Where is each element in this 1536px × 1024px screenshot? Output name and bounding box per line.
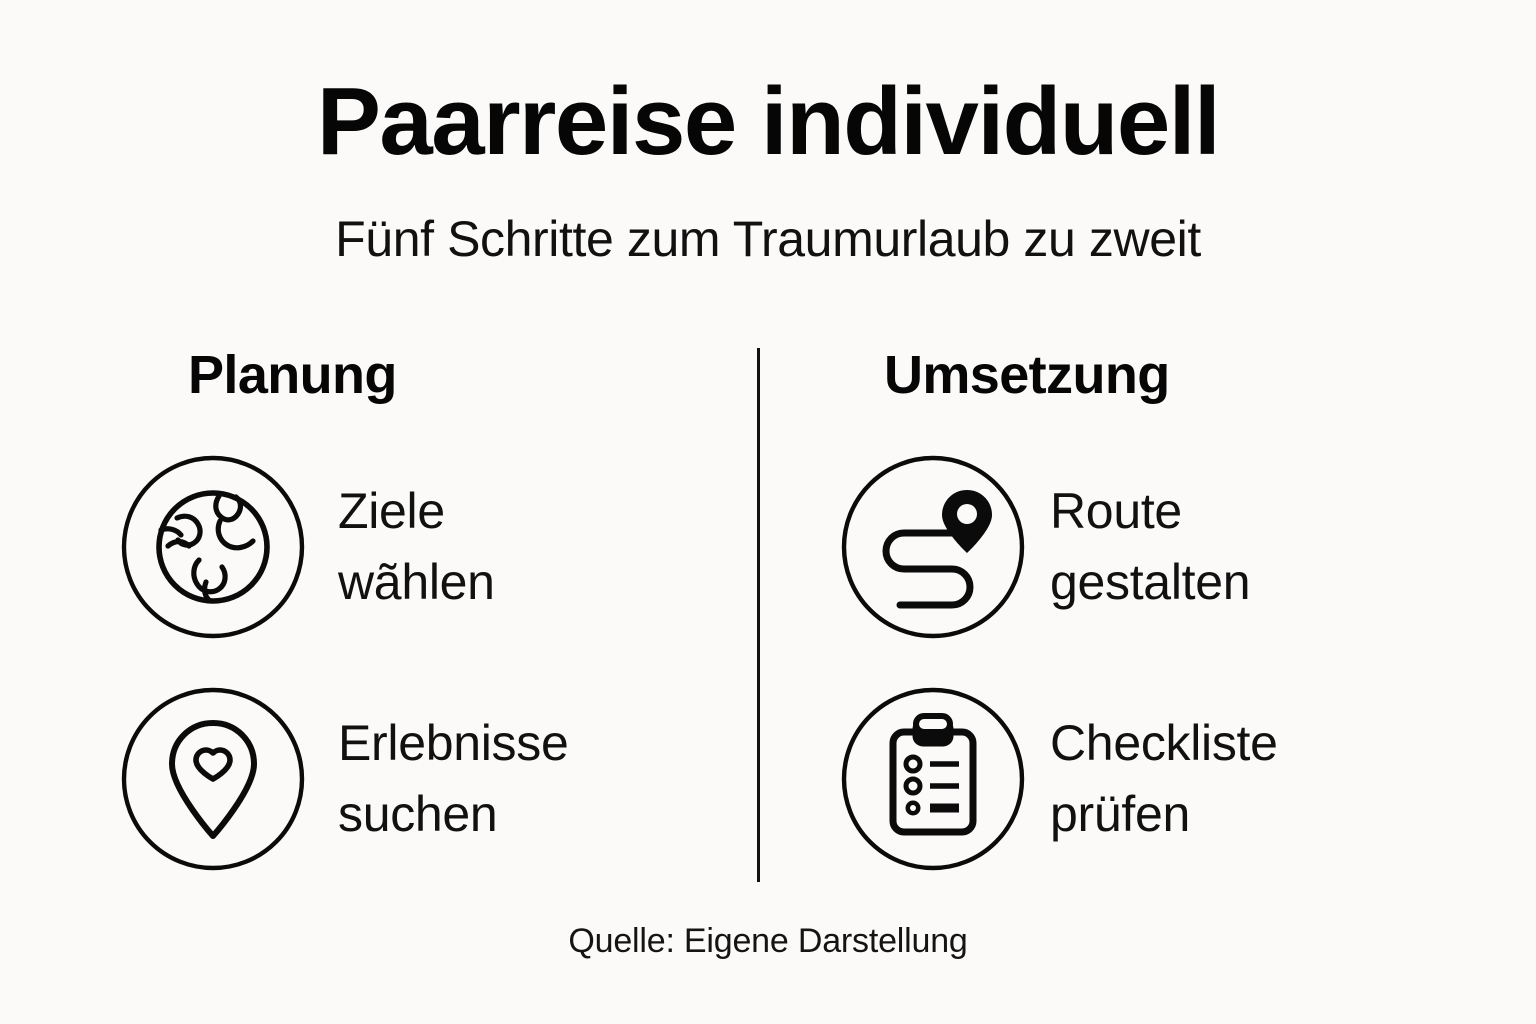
globe-icon xyxy=(120,454,306,640)
list-item: Erlebnisse suchen xyxy=(120,686,738,872)
route-pin-icon xyxy=(840,454,1026,640)
list-item-label: Checkliste prüfen xyxy=(1050,708,1278,850)
list-item: Ziele wãhlen xyxy=(120,454,738,640)
source-note: Quelle: Eigene Darstellung xyxy=(0,922,1536,961)
column-heading-umsetzung: Umsetzung xyxy=(840,348,1466,402)
list-item-label: Ziele wãhlen xyxy=(338,476,495,618)
map-pin-heart-icon xyxy=(120,686,306,872)
infographic-canvas: Paarreise individuell Fünf Schritte zum … xyxy=(0,0,1536,1024)
page-title: Paarreise individuell xyxy=(0,74,1536,170)
clipboard-checklist-icon xyxy=(840,686,1026,872)
list-item: Checkliste prüfen xyxy=(840,686,1466,872)
column-planung: Planung Ziele wãhlen xyxy=(0,348,768,888)
column-heading-planung: Planung xyxy=(120,348,738,402)
list-item: Route gestalten xyxy=(840,454,1466,640)
column-umsetzung: Umsetzung Route gestalten xyxy=(768,348,1536,888)
header: Paarreise individuell Fünf Schritte zum … xyxy=(0,74,1536,264)
columns-container: Planung Ziele wãhlen xyxy=(0,348,1536,888)
page-subtitle: Fünf Schritte zum Traumurlaub zu zweit xyxy=(0,214,1536,264)
list-item-label: Route gestalten xyxy=(1050,476,1250,618)
footer: Quelle: Eigene Darstellung xyxy=(0,922,1536,961)
list-item-label: Erlebnisse suchen xyxy=(338,708,568,850)
